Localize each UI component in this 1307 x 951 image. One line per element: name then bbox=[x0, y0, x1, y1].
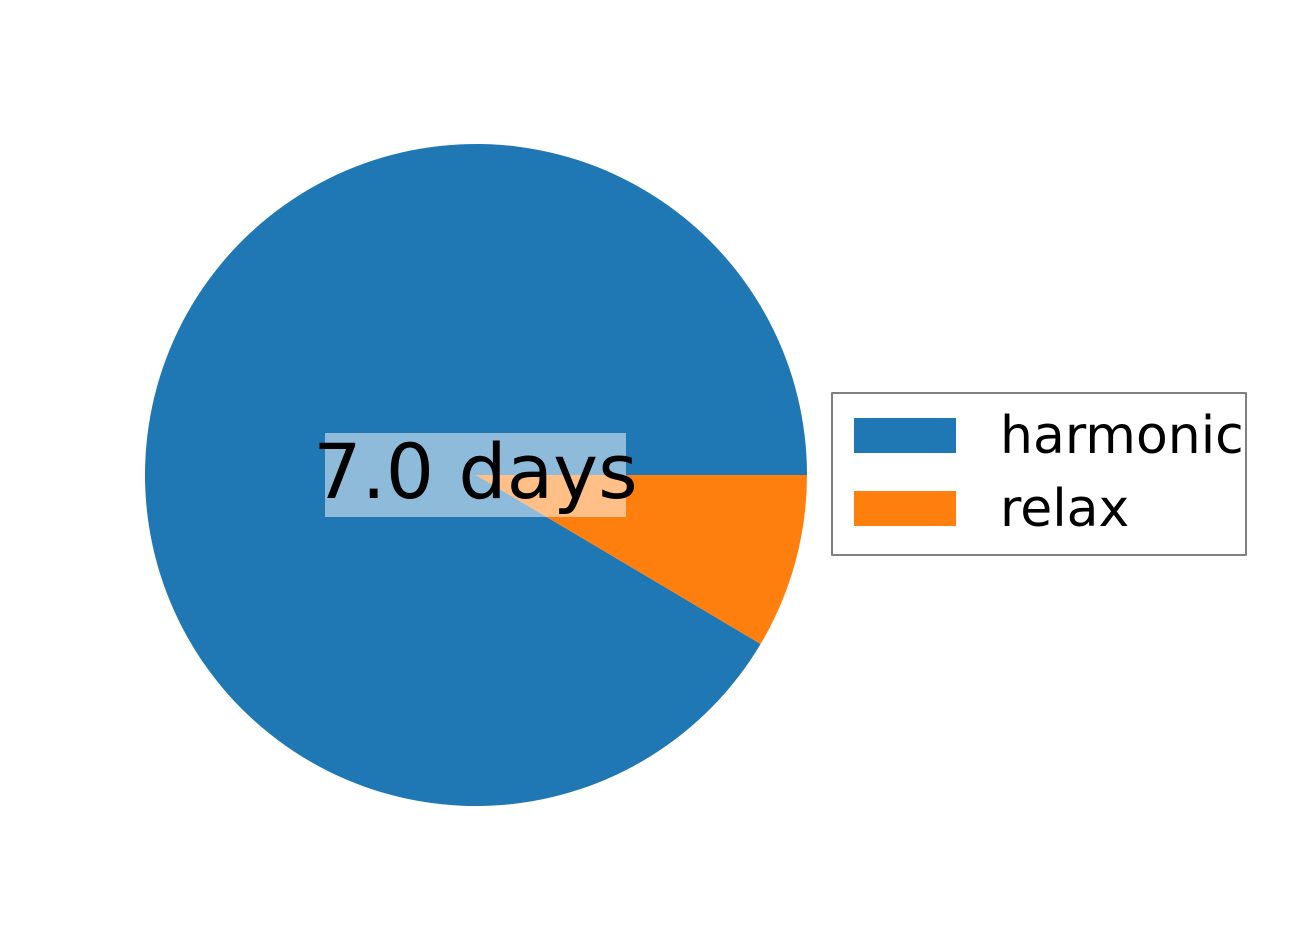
legend-swatch-relax bbox=[854, 491, 956, 526]
pie-wedge-label-harmonic: 7.0 days bbox=[325, 433, 626, 517]
legend-swatch-harmonic bbox=[854, 418, 956, 453]
legend-item-relax[interactable]: relax bbox=[854, 491, 1245, 526]
figure-canvas: 7.0 days harmonic relax bbox=[0, 0, 1307, 951]
legend: harmonic relax bbox=[831, 392, 1247, 556]
legend-item-harmonic[interactable]: harmonic bbox=[854, 418, 1245, 453]
legend-label-harmonic: harmonic bbox=[1000, 410, 1244, 462]
legend-label-relax: relax bbox=[1000, 483, 1129, 535]
